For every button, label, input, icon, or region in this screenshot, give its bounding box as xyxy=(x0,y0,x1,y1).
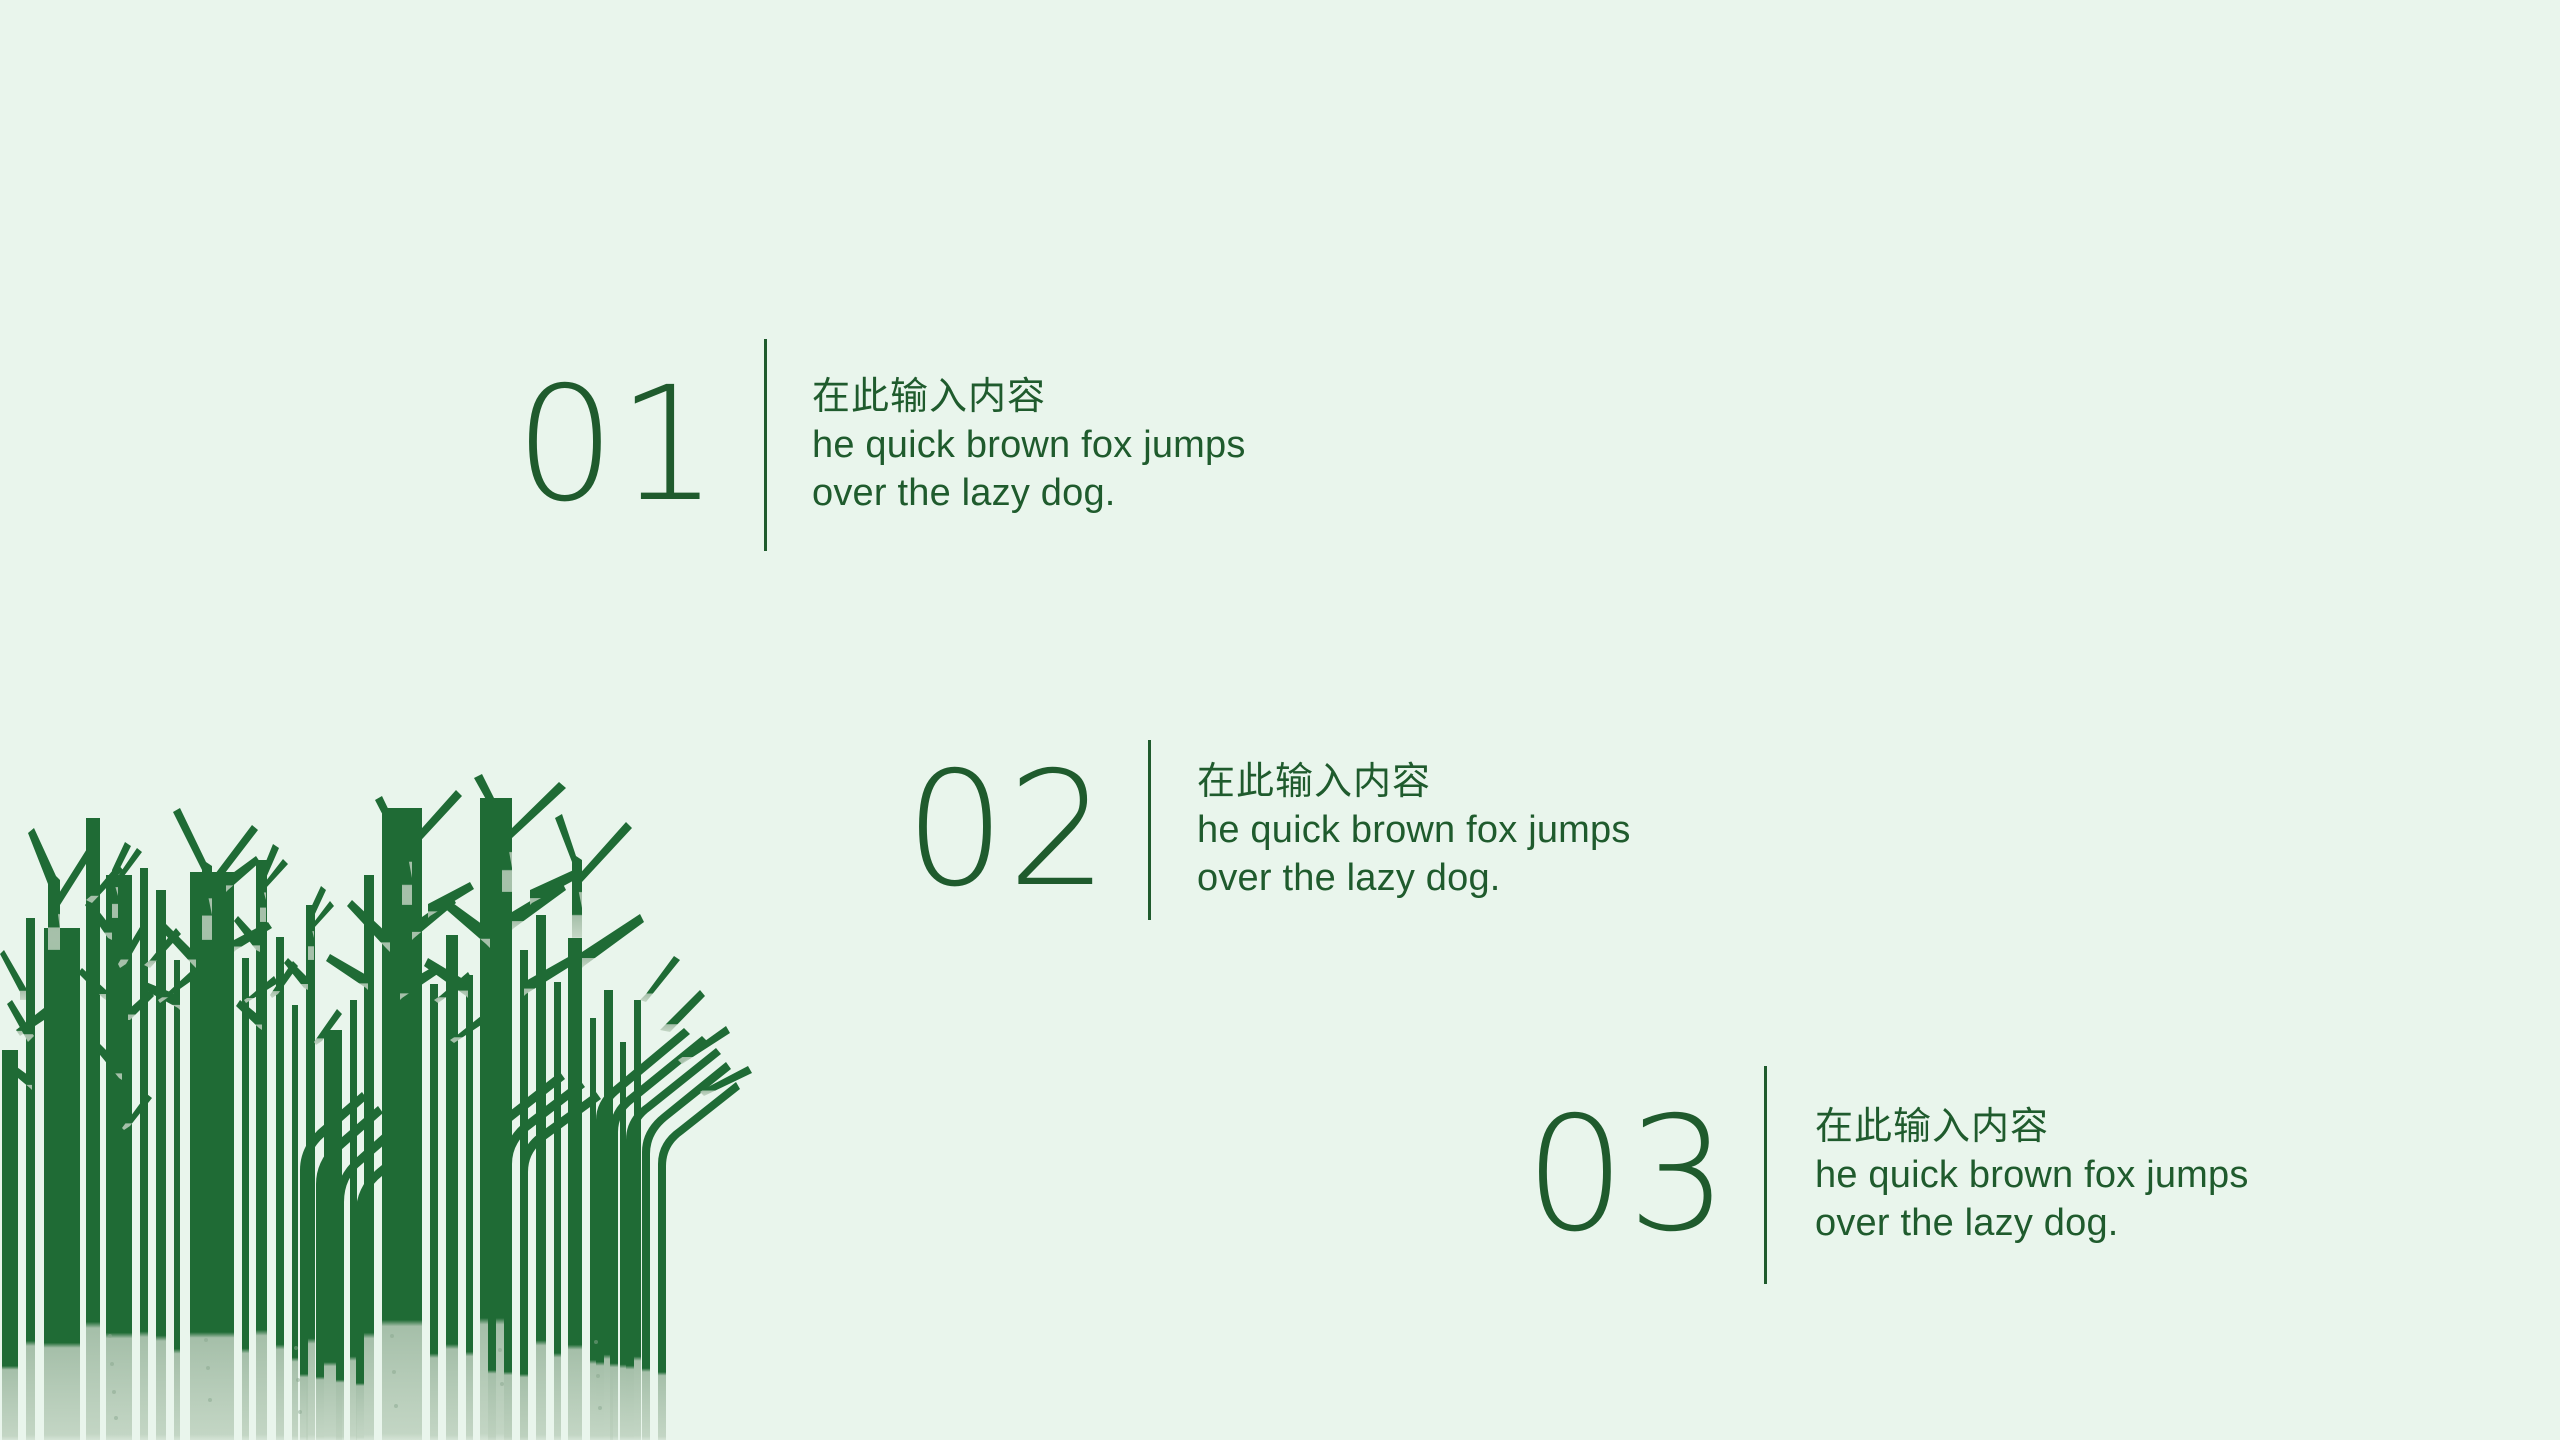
item-number-03: 03 xyxy=(1510,1060,1730,1290)
item-text-block-03: 在此输入内容 he quick brown fox jumps over the… xyxy=(1815,1060,2249,1290)
item-heading-01: 在此输入内容 xyxy=(812,373,1246,421)
item-body-line1-03: he quick brown fox jumps xyxy=(1815,1151,2249,1199)
content-item-01: 01 在此输入内容 he quick brown fox jumps over … xyxy=(500,330,1246,560)
item-body-line2-01: over the lazy dog. xyxy=(812,469,1246,517)
item-text-block-02: 在此输入内容 he quick brown fox jumps over the… xyxy=(1197,715,1631,945)
slide-canvas: 01 在此输入内容 he quick brown fox jumps over … xyxy=(0,0,2560,1440)
item-text-block-01: 在此输入内容 he quick brown fox jumps over the… xyxy=(812,330,1246,560)
item-heading-03: 在此输入内容 xyxy=(1815,1103,2249,1151)
content-item-02: 02 在此输入内容 he quick brown fox jumps over … xyxy=(890,715,1631,945)
barcode-forest-illustration xyxy=(0,700,760,1440)
item-body-line2-03: over the lazy dog. xyxy=(1815,1199,2249,1247)
item-divider-02 xyxy=(1148,740,1151,920)
item-heading-02: 在此输入内容 xyxy=(1197,758,1631,806)
item-divider-01 xyxy=(764,339,767,551)
item-divider-03 xyxy=(1764,1066,1767,1284)
item-number-01: 01 xyxy=(500,330,720,560)
item-number-02: 02 xyxy=(890,715,1110,945)
item-body-line2-02: over the lazy dog. xyxy=(1197,854,1631,902)
item-body-line1-01: he quick brown fox jumps xyxy=(812,421,1246,469)
item-body-line1-02: he quick brown fox jumps xyxy=(1197,806,1631,854)
content-item-03: 03 在此输入内容 he quick brown fox jumps over … xyxy=(1510,1060,2249,1290)
